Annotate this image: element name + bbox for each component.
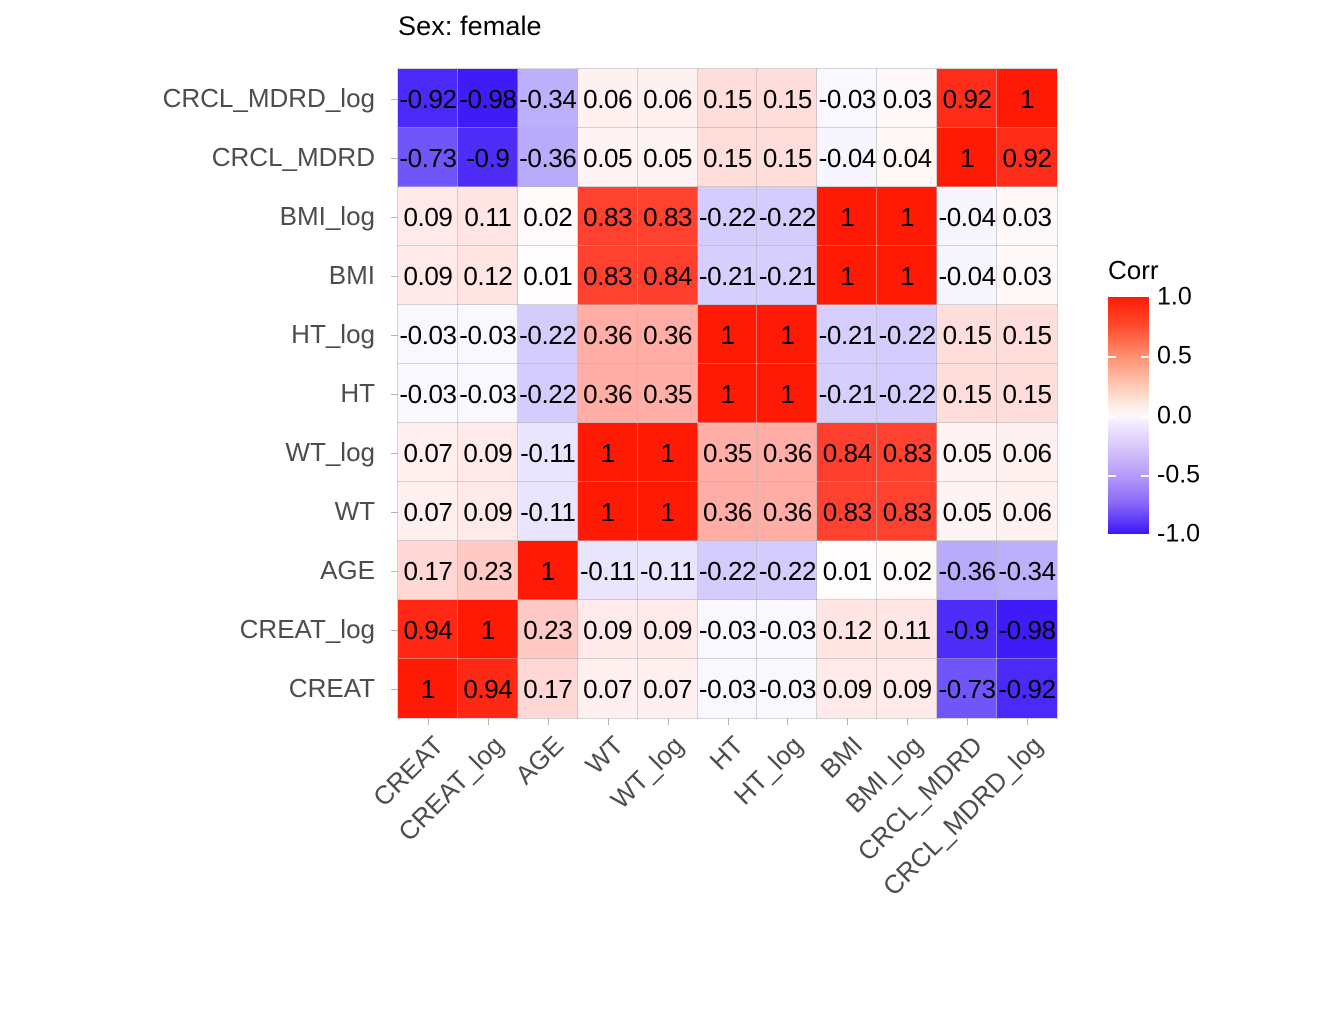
- heatmap-cell: -0.21: [817, 364, 877, 423]
- heatmap-cell: -0.9: [937, 600, 997, 659]
- legend-tick-label: 0.5: [1157, 342, 1192, 371]
- heatmap-cell-value: -0.73: [938, 676, 995, 702]
- heatmap-cell-value: 1: [1020, 86, 1034, 112]
- y-axis-tick: CREAT_log: [0, 600, 384, 659]
- y-axis-tick-label: WT: [335, 496, 375, 527]
- heatmap-cell-value: -0.36: [519, 145, 576, 171]
- heatmap-cell: -0.36: [937, 541, 997, 600]
- heatmap-cell-value: 0.83: [583, 204, 632, 230]
- heatmap-cell-value: -0.03: [699, 617, 756, 643]
- x-axis-tick-label-text: HT: [703, 730, 749, 776]
- heatmap-cell-value: 0.84: [823, 440, 872, 466]
- legend-tick-mark: [1108, 475, 1116, 477]
- x-axis-tick-mark: [787, 718, 788, 725]
- heatmap-cell: 0.94: [458, 659, 518, 718]
- heatmap-cell-value: 1: [900, 263, 914, 289]
- heatmap-cell: 0.07: [638, 659, 698, 718]
- heatmap-cell: 0.15: [698, 69, 758, 128]
- y-axis-tick: CREAT: [0, 659, 384, 718]
- heatmap-cell: 1: [937, 128, 997, 187]
- heatmap-cell: -0.98: [458, 69, 518, 128]
- heatmap-cell-value: 0.02: [523, 204, 572, 230]
- heatmap-cell-value: 0.09: [463, 440, 512, 466]
- y-axis-tick-mark: [391, 630, 398, 631]
- heatmap-cell: 0.01: [817, 541, 877, 600]
- heatmap-cell: 0.01: [518, 246, 578, 305]
- heatmap-cell-value: -0.22: [759, 558, 816, 584]
- heatmap-cell: 0.12: [458, 246, 518, 305]
- heatmap-cell-value: 0.84: [643, 263, 692, 289]
- heatmap-cell: -0.73: [937, 659, 997, 718]
- heatmap-cell: -0.03: [757, 600, 817, 659]
- y-axis-tick-mark: [391, 571, 398, 572]
- heatmap-cell-value: -0.22: [879, 322, 936, 348]
- heatmap-cell-value: -0.03: [699, 676, 756, 702]
- y-axis-tick-label: CREAT: [289, 673, 375, 704]
- heatmap-cell: 0.06: [997, 482, 1057, 541]
- heatmap-cell: 0.36: [698, 482, 758, 541]
- heatmap-cell-value: 0.09: [403, 204, 452, 230]
- heatmap-cell-value: 0.05: [583, 145, 632, 171]
- heatmap-cell-value: -0.04: [938, 204, 995, 230]
- heatmap-cell-value: -0.92: [998, 676, 1055, 702]
- heatmap-cell: 1: [817, 246, 877, 305]
- heatmap-cell: -0.34: [997, 541, 1057, 600]
- heatmap-cell-value: 0.15: [943, 381, 992, 407]
- heatmap-cell-value: 0.03: [1003, 263, 1052, 289]
- heatmap-cell-value: -0.73: [399, 145, 456, 171]
- heatmap-cell-value: 0.07: [583, 676, 632, 702]
- x-axis-tick-mark: [967, 718, 968, 725]
- heatmap-cell-value: 0.15: [763, 86, 812, 112]
- heatmap-cell: -0.03: [757, 659, 817, 718]
- heatmap-cell: 1: [638, 423, 698, 482]
- heatmap-cell-value: -0.11: [580, 558, 635, 584]
- heatmap-cell-value: 0.36: [763, 499, 812, 525]
- heatmap-cell-value: 1: [481, 617, 495, 643]
- legend-tick-label: 1.0: [1157, 283, 1192, 312]
- heatmap-cell-value: 1: [541, 558, 555, 584]
- heatmap-cell-value: -0.9: [466, 145, 509, 171]
- x-axis-tick-mark: [847, 718, 848, 725]
- heatmap-cell: 0.23: [518, 600, 578, 659]
- heatmap-cell-value: -0.92: [399, 86, 456, 112]
- heatmap-cell-value: 0.83: [583, 263, 632, 289]
- heatmap-cell-value: -0.9: [946, 617, 989, 643]
- heatmap-cell: 1: [757, 364, 817, 423]
- heatmap-cell-value: 1: [780, 381, 794, 407]
- x-axis-tick-mark: [907, 718, 908, 725]
- heatmap-cell-value: 0.01: [523, 263, 572, 289]
- heatmap-cell-value: 0.17: [523, 676, 572, 702]
- heatmap-cell: -0.92: [997, 659, 1057, 718]
- heatmap-cell-value: 0.03: [1003, 204, 1052, 230]
- heatmap-cell: 0.09: [458, 423, 518, 482]
- heatmap-cell-value: 0.94: [463, 676, 512, 702]
- heatmap-cell-value: -0.11: [520, 499, 575, 525]
- heatmap-cell: -0.03: [458, 364, 518, 423]
- heatmap-cell-value: 0.05: [943, 440, 992, 466]
- legend-tick-label: 0.0: [1157, 401, 1192, 430]
- heatmap-cell: -0.34: [518, 69, 578, 128]
- heatmap-cell: 0.15: [937, 364, 997, 423]
- x-axis-tick-mark: [428, 718, 429, 725]
- x-axis-tick-mark: [728, 718, 729, 725]
- legend-tick-label: -1.0: [1157, 520, 1200, 549]
- heatmap-cell-value: -0.04: [938, 263, 995, 289]
- heatmap-cell-value: 0.83: [883, 440, 932, 466]
- heatmap-cell: 1: [578, 423, 638, 482]
- heatmap-cell: 0.05: [937, 423, 997, 482]
- y-axis-tick: HT_log: [0, 305, 384, 364]
- x-axis-tick-mark: [608, 718, 609, 725]
- heatmap-cell: 0.04: [877, 128, 937, 187]
- heatmap-cell: 1: [638, 482, 698, 541]
- heatmap-cell-value: -0.11: [640, 558, 695, 584]
- heatmap-cell-value: -0.36: [938, 558, 995, 584]
- y-axis-tick: WT: [0, 482, 384, 541]
- heatmap-cell-value: -0.22: [519, 381, 576, 407]
- heatmap-cell-value: 1: [960, 145, 974, 171]
- y-axis-tick-mark: [391, 99, 398, 100]
- heatmap-cell: -0.36: [518, 128, 578, 187]
- heatmap-cell: -0.92: [398, 69, 458, 128]
- heatmap-cell: -0.22: [877, 364, 937, 423]
- heatmap-cell: 0.15: [757, 69, 817, 128]
- heatmap-cell: 0.36: [757, 482, 817, 541]
- heatmap-cell-value: 1: [780, 322, 794, 348]
- heatmap-cell: 0.06: [638, 69, 698, 128]
- heatmap-cell-value: 0.09: [883, 676, 932, 702]
- heatmap-cell-value: 0.83: [823, 499, 872, 525]
- heatmap-cell-value: 0.09: [403, 263, 452, 289]
- heatmap-cell: 0.05: [937, 482, 997, 541]
- y-axis-tick-mark: [391, 217, 398, 218]
- heatmap-cell-value: -0.11: [520, 440, 575, 466]
- heatmap-cell-value: -0.98: [998, 617, 1055, 643]
- heatmap-cell: 0.94: [398, 600, 458, 659]
- heatmap-cell-value: 0.23: [463, 558, 512, 584]
- heatmap-cell-value: 1: [601, 440, 615, 466]
- heatmap-cell: 1: [458, 600, 518, 659]
- heatmap-cell: 0.06: [997, 423, 1057, 482]
- heatmap-cell-value: -0.21: [699, 263, 756, 289]
- heatmap-cell: 0.83: [578, 187, 638, 246]
- heatmap-cell-value: -0.22: [759, 204, 816, 230]
- heatmap-cell-value: 0.07: [403, 499, 452, 525]
- heatmap-cell: -0.22: [877, 305, 937, 364]
- y-axis-tick-label: CRCL_MDRD: [212, 142, 375, 173]
- x-axis-tick-label-text: WT: [579, 730, 630, 781]
- heatmap-cell: -0.03: [398, 364, 458, 423]
- heatmap-cell: 0.02: [877, 541, 937, 600]
- heatmap-cell-value: 0.36: [703, 499, 752, 525]
- y-axis-tick: BMI_log: [0, 187, 384, 246]
- heatmap-cell-value: -0.03: [759, 617, 816, 643]
- heatmap-cell-value: 0.15: [1003, 381, 1052, 407]
- heatmap-cell-value: 0.06: [1003, 499, 1052, 525]
- heatmap-cell: 1: [997, 69, 1057, 128]
- heatmap-cell-value: 0.36: [583, 322, 632, 348]
- y-axis-tick-mark: [391, 512, 398, 513]
- x-axis-tick-mark: [548, 718, 549, 725]
- heatmap-cell: -0.11: [518, 423, 578, 482]
- legend-tick-mark: [1108, 416, 1116, 418]
- y-axis-tick: CRCL_MDRD_log: [0, 69, 384, 128]
- y-axis-tick-label: HT_log: [291, 319, 375, 350]
- heatmap-cell: 0.84: [817, 423, 877, 482]
- y-axis-tick: BMI: [0, 246, 384, 305]
- heatmap-cell-value: 1: [601, 499, 615, 525]
- heatmap-cell: 0.36: [638, 305, 698, 364]
- heatmap-cell: 0.35: [638, 364, 698, 423]
- heatmap-cell: -0.11: [518, 482, 578, 541]
- heatmap-cell-value: 0.17: [403, 558, 452, 584]
- heatmap-cell: 0.12: [817, 600, 877, 659]
- heatmap-cell-value: 0.09: [643, 617, 692, 643]
- heatmap-cell-value: 0.11: [884, 617, 931, 643]
- heatmap-cell-value: 0.06: [1003, 440, 1052, 466]
- heatmap-cell: 1: [518, 541, 578, 600]
- heatmap-cell: -0.21: [817, 305, 877, 364]
- heatmap-cell: 0.07: [578, 659, 638, 718]
- heatmap-cell: -0.9: [458, 128, 518, 187]
- heatmap-cell: 0.36: [757, 423, 817, 482]
- heatmap-cell: 0.35: [698, 423, 758, 482]
- heatmap-cell-value: 0.12: [463, 263, 512, 289]
- heatmap-cell: 0.92: [997, 128, 1057, 187]
- heatmap-cell-value: -0.22: [519, 322, 576, 348]
- heatmap-cell-value: -0.03: [459, 381, 516, 407]
- heatmap-cell: 1: [578, 482, 638, 541]
- heatmap-cell: 0.15: [937, 305, 997, 364]
- legend-tick-mark: [1141, 475, 1149, 477]
- heatmap-cell: 0.17: [518, 659, 578, 718]
- heatmap-cell: -0.11: [638, 541, 698, 600]
- heatmap-cell-value: 1: [661, 499, 675, 525]
- heatmap-cell: -0.21: [757, 246, 817, 305]
- heatmap-cell: -0.22: [698, 187, 758, 246]
- heatmap-cell: 0.09: [398, 246, 458, 305]
- heatmap-cell: 0.15: [698, 128, 758, 187]
- heatmap-cell: -0.03: [698, 600, 758, 659]
- heatmap-cell-value: -0.04: [819, 145, 876, 171]
- heatmap-cell: 1: [757, 305, 817, 364]
- y-axis-tick-mark: [391, 158, 398, 159]
- heatmap-cell: -0.22: [518, 364, 578, 423]
- heatmap-cell: -0.22: [757, 541, 817, 600]
- heatmap-cell: -0.73: [398, 128, 458, 187]
- heatmap-cell-value: 0.11: [464, 204, 511, 230]
- heatmap-cell: 0.84: [638, 246, 698, 305]
- y-axis-tick-mark: [391, 276, 398, 277]
- heatmap-cell: -0.03: [458, 305, 518, 364]
- heatmap-cell-value: -0.22: [879, 381, 936, 407]
- heatmap-cell-value: 1: [720, 381, 734, 407]
- heatmap-cell-value: -0.22: [699, 558, 756, 584]
- heatmap-cell-value: -0.22: [699, 204, 756, 230]
- y-axis-tick-label: HT: [340, 378, 375, 409]
- heatmap-cell-value: 0.12: [823, 617, 872, 643]
- heatmap-cell: 0.11: [458, 187, 518, 246]
- heatmap-cell-value: 0.09: [583, 617, 632, 643]
- heatmap-cell: -0.04: [937, 246, 997, 305]
- heatmap-cell: -0.04: [817, 128, 877, 187]
- legend-tick-mark: [1108, 356, 1116, 358]
- heatmap-cell: 0.07: [398, 423, 458, 482]
- y-axis-tick: WT_log: [0, 423, 384, 482]
- heatmap-cell: 1: [398, 659, 458, 718]
- heatmap-cell-value: -0.34: [998, 558, 1055, 584]
- y-axis-tick: AGE: [0, 541, 384, 600]
- x-axis-tick-mark: [1027, 718, 1028, 725]
- heatmap-cell: 0.07: [398, 482, 458, 541]
- heatmap-cell: 0.09: [877, 659, 937, 718]
- heatmap-cell-value: -0.03: [459, 322, 516, 348]
- heatmap-cell-value: 1: [421, 676, 435, 702]
- heatmap-cell: 0.15: [757, 128, 817, 187]
- y-axis-tick-mark: [391, 689, 398, 690]
- heatmap-cell-value: 0.02: [883, 558, 932, 584]
- heatmap-cell-value: -0.98: [459, 86, 516, 112]
- legend-title: Corr: [1108, 255, 1159, 286]
- heatmap-cell-value: 0.15: [943, 322, 992, 348]
- heatmap-cell: 0.09: [458, 482, 518, 541]
- heatmap-cell-value: 0.05: [643, 145, 692, 171]
- heatmap-cell-value: 0.09: [463, 499, 512, 525]
- x-axis-tick-mark: [668, 718, 669, 725]
- heatmap-cell-value: 1: [720, 322, 734, 348]
- heatmap-cell: -0.22: [698, 541, 758, 600]
- heatmap-cell-value: 0.07: [403, 440, 452, 466]
- heatmap-cell-value: -0.34: [519, 86, 576, 112]
- heatmap-cell-value: 0.06: [583, 86, 632, 112]
- heatmap-cell-value: 1: [661, 440, 675, 466]
- heatmap-cell-value: 0.35: [703, 440, 752, 466]
- heatmap-cell-value: 0.36: [643, 322, 692, 348]
- heatmap-cell-value: 0.15: [703, 86, 752, 112]
- heatmap-cell-value: 0.23: [523, 617, 572, 643]
- heatmap-cell-value: 0.36: [583, 381, 632, 407]
- heatmap-cell-value: 1: [840, 204, 854, 230]
- heatmap-cell-value: 0.94: [403, 617, 452, 643]
- heatmap-cell: 0.36: [578, 305, 638, 364]
- heatmap-cell: 0.92: [937, 69, 997, 128]
- heatmap-cell-value: -0.03: [819, 86, 876, 112]
- heatmap-cell: 0.02: [518, 187, 578, 246]
- y-axis: CRCL_MDRD_logCRCL_MDRDBMI_logBMIHT_logHT…: [0, 69, 384, 718]
- y-axis-tick-label: CRCL_MDRD_log: [163, 83, 375, 114]
- heatmap-cell-value: 0.03: [883, 86, 932, 112]
- heatmap-cell: 1: [698, 305, 758, 364]
- heatmap-cell: -0.03: [398, 305, 458, 364]
- heatmap-cell: 0.09: [398, 187, 458, 246]
- y-axis-tick: HT: [0, 364, 384, 423]
- heatmap-cell: -0.98: [997, 600, 1057, 659]
- heatmap-grid: -0.92-0.98-0.340.060.060.150.15-0.030.03…: [398, 69, 1057, 718]
- heatmap-cell-value: 0.36: [763, 440, 812, 466]
- heatmap-cell-value: -0.03: [399, 381, 456, 407]
- heatmap-cell: 0.83: [817, 482, 877, 541]
- heatmap-cell-value: 0.07: [643, 676, 692, 702]
- heatmap-cell-value: 0.15: [1003, 322, 1052, 348]
- heatmap-cell: 0.09: [817, 659, 877, 718]
- y-axis-tick-label: BMI: [329, 260, 375, 291]
- heatmap-cell: 0.15: [997, 364, 1057, 423]
- heatmap-cell: -0.03: [698, 659, 758, 718]
- heatmap-cell-value: 0.01: [823, 558, 872, 584]
- heatmap-cell: 1: [877, 246, 937, 305]
- x-axis: CREATCREAT_logAGEWTWT_logHTHT_logBMIBMI_…: [398, 718, 1057, 958]
- heatmap-cell: 0.06: [578, 69, 638, 128]
- heatmap-cell-value: 0.92: [943, 86, 992, 112]
- heatmap-cell: 1: [877, 187, 937, 246]
- correlation-heatmap-plot: Sex: female CRCL_MDRD_logCRCL_MDRDBMI_lo…: [0, 0, 1344, 960]
- page-title: Sex: female: [398, 11, 542, 42]
- heatmap-cell: 1: [698, 364, 758, 423]
- heatmap-cell-value: 0.83: [643, 204, 692, 230]
- heatmap-cell: 0.09: [578, 600, 638, 659]
- y-axis-tick-label: CREAT_log: [240, 614, 375, 645]
- heatmap-cell: 0.36: [578, 364, 638, 423]
- heatmap-cell-value: 1: [900, 204, 914, 230]
- heatmap-cell: -0.21: [698, 246, 758, 305]
- legend-tick-label: -0.5: [1157, 460, 1200, 489]
- heatmap-cell-value: -0.03: [399, 322, 456, 348]
- heatmap-cell-value: 0.92: [1003, 145, 1052, 171]
- heatmap-cell-value: 0.35: [643, 381, 692, 407]
- heatmap-cell: 0.83: [877, 482, 937, 541]
- heatmap-cell: 0.09: [638, 600, 698, 659]
- y-axis-tick-mark: [391, 394, 398, 395]
- heatmap-cell-value: -0.21: [819, 322, 876, 348]
- heatmap-cell: 0.23: [458, 541, 518, 600]
- y-axis-tick-mark: [391, 453, 398, 454]
- heatmap-cell: 0.11: [877, 600, 937, 659]
- heatmap-cell: 0.03: [997, 246, 1057, 305]
- y-axis-tick: CRCL_MDRD: [0, 128, 384, 187]
- heatmap-cell-value: 0.05: [943, 499, 992, 525]
- heatmap-cell: 0.15: [997, 305, 1057, 364]
- heatmap-cell: 0.03: [997, 187, 1057, 246]
- y-axis-tick-label: AGE: [320, 555, 375, 586]
- heatmap-cell-value: -0.21: [759, 263, 816, 289]
- heatmap-cell-value: 1: [840, 263, 854, 289]
- heatmap-cell-value: -0.21: [819, 381, 876, 407]
- heatmap-cell: 1: [817, 187, 877, 246]
- heatmap-cell-value: -0.03: [759, 676, 816, 702]
- heatmap-cell-value: 0.04: [883, 145, 932, 171]
- heatmap-cell: -0.04: [937, 187, 997, 246]
- legend-tick-mark: [1141, 356, 1149, 358]
- heatmap-cell: -0.22: [757, 187, 817, 246]
- heatmap-cell: 0.05: [578, 128, 638, 187]
- x-axis-tick-mark: [488, 718, 489, 725]
- heatmap-cell-value: 0.09: [823, 676, 872, 702]
- heatmap-cell-value: 0.15: [763, 145, 812, 171]
- heatmap-cell: 0.05: [638, 128, 698, 187]
- y-axis-tick-mark: [391, 335, 398, 336]
- heatmap-cell-value: 0.15: [703, 145, 752, 171]
- heatmap-cell: -0.03: [817, 69, 877, 128]
- y-axis-tick-label: WT_log: [285, 437, 375, 468]
- heatmap-cell: -0.11: [578, 541, 638, 600]
- heatmap-cell: 0.03: [877, 69, 937, 128]
- heatmap-cell-value: 0.06: [643, 86, 692, 112]
- legend-tick-mark: [1141, 416, 1149, 418]
- heatmap-cell: 0.17: [398, 541, 458, 600]
- y-axis-tick-label: BMI_log: [280, 201, 375, 232]
